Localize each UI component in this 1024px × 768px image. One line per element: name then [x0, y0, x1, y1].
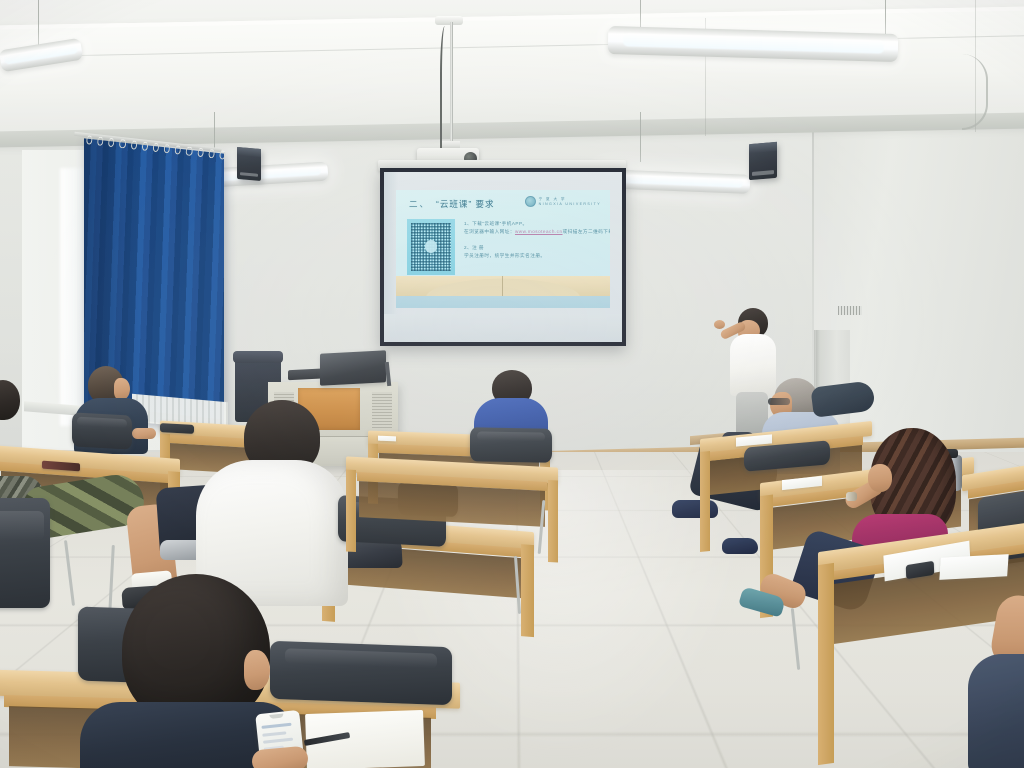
head [0, 380, 20, 420]
person-corner [984, 596, 1024, 768]
qr-code-icon [411, 223, 451, 271]
desk [346, 456, 558, 567]
paper-on-desk[interactable] [378, 436, 396, 442]
slide-title: 二、“云班课” 要求 [409, 198, 495, 210]
slide-title-text: “云班课” 要求 [436, 199, 495, 209]
slide-point-2-detail: 学员注册时，统学生并形实名注册。 [464, 252, 602, 260]
cabinet-speaker-grille-right [372, 392, 392, 428]
slide-url-link[interactable]: www.mosoteach.cn [515, 229, 563, 234]
projector-ceiling-plate [435, 16, 463, 25]
light-wire [640, 112, 641, 162]
slide-body: 1、下载“云班课”手机APP。 在浏览器中输入网址：www.mosoteach.… [464, 220, 602, 261]
paper-on-desk[interactable] [939, 554, 1008, 580]
hand [868, 464, 892, 492]
speaker-icon [237, 147, 261, 181]
face [114, 378, 130, 400]
slide-point-1-detail: 在浏览器中输入网址：www.mosoteach.cn或扫描左方二维码下载。 [464, 228, 602, 236]
projector-vent [838, 306, 862, 315]
chair [470, 427, 552, 462]
chair [0, 498, 50, 608]
classroom-photo: 二、“云班课” 要求 宁 夏 大 学 NINGXIA UNIVERSITY 1、… [0, 0, 1024, 768]
slide-open-book-graphic [396, 276, 610, 296]
bracelet [846, 492, 857, 501]
university-logo: 宁 夏 大 学 NINGXIA UNIVERSITY [525, 196, 601, 207]
ear [244, 650, 270, 690]
phone-on-desk[interactable] [160, 423, 194, 434]
projection-screen: 二、“云班课” 要求 宁 夏 大 学 NINGXIA UNIVERSITY 1、… [380, 168, 626, 346]
light-wire [38, 0, 39, 46]
chair [270, 641, 452, 705]
slide-point-1-suffix: 或扫描左方二维码下载。 [563, 229, 610, 234]
university-name-en: NINGXIA UNIVERSITY [539, 202, 601, 206]
person-foreground-man [98, 574, 278, 768]
university-crest-icon [525, 196, 536, 207]
slide-point-1-prefix: 在浏览器中输入网址： [464, 229, 515, 234]
speaker-icon [749, 142, 777, 180]
slide-section-number: 二、 [409, 199, 430, 209]
light-wire [885, 0, 886, 38]
person-white-tee-man [196, 400, 348, 600]
glasses-icon [768, 398, 790, 405]
projector-cable [440, 26, 452, 150]
slide-qr-panel [407, 219, 455, 275]
leg-jeans [968, 654, 1024, 768]
screen-lower-blank [384, 314, 622, 342]
laptop-icon[interactable] [320, 350, 386, 385]
hand [714, 320, 725, 329]
university-name-cn: 宁 夏 大 学 [539, 197, 601, 201]
slide-point-2: 2、注 册 [464, 244, 602, 252]
projected-slide: 二、“云班课” 要求 宁 夏 大 学 NINGXIA UNIVERSITY 1、… [396, 190, 610, 308]
slide-point-1: 1、下载“云班课”手机APP。 [464, 220, 602, 228]
arm [132, 428, 156, 439]
hand [251, 746, 309, 768]
